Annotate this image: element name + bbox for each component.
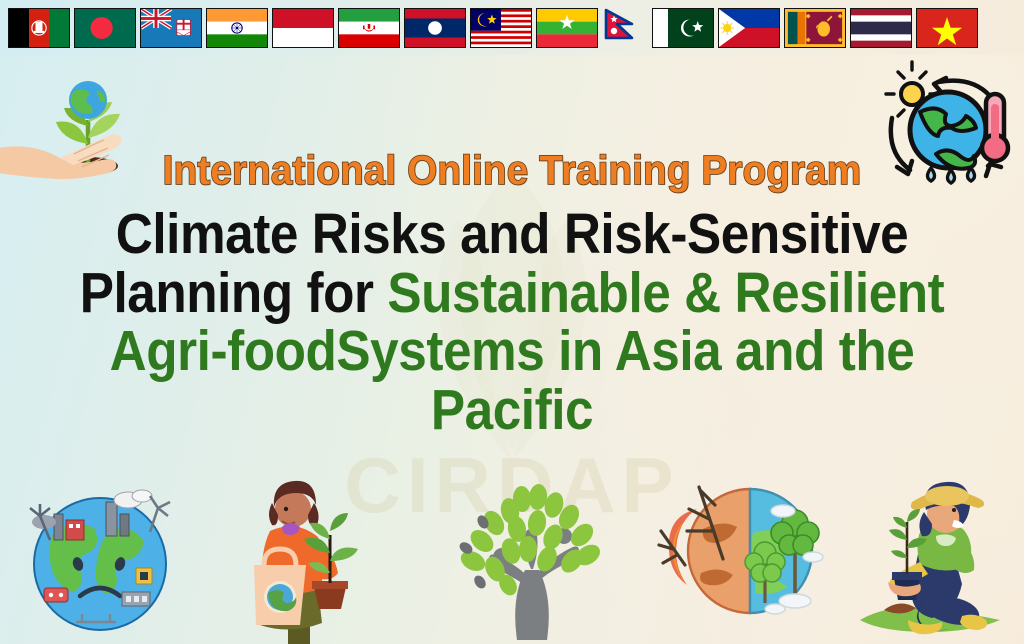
woman-with-tote-and-plant-icon — [230, 469, 370, 644]
flag-iran — [338, 8, 400, 48]
headings-block: International Online Training Program Cl… — [0, 150, 1024, 440]
title-line-2: Planning for Sustainable & Resilient — [51, 264, 973, 323]
flag-laos — [404, 8, 466, 48]
title-line-3-green: Agri-foodSystems in Asia and the Pacific — [110, 319, 915, 442]
flag-bangladesh — [74, 8, 136, 48]
flag-vietnam — [916, 8, 978, 48]
program-kicker: International Online Training Program — [31, 150, 994, 191]
title-line-3: Agri-foodSystems in Asia and the Pacific — [51, 322, 973, 439]
title-line-2-black: Planning for — [80, 261, 388, 325]
flag-strip — [0, 0, 1024, 55]
flag-nepal — [602, 8, 648, 48]
sad-polluted-earth-icon — [10, 472, 188, 640]
flag-pakistan — [652, 8, 714, 48]
split-globe-drought-green-icon — [655, 469, 850, 634]
title-line-1: Climate Risks and Risk-Sensitive — [51, 205, 973, 264]
flag-myanmar — [536, 8, 598, 48]
people-tree-icon — [425, 465, 640, 640]
flag-afghanistan — [8, 8, 70, 48]
gardener-planting-icon — [850, 470, 1010, 642]
flag-india — [206, 8, 268, 48]
title-line-2-green: Sustainable & Resilient — [387, 261, 944, 325]
flag-indonesia — [272, 8, 334, 48]
flag-malaysia — [470, 8, 532, 48]
title-line-1-text: Climate Risks and Risk-Sensitive — [116, 202, 908, 266]
flag-fiji — [140, 8, 202, 48]
flag-sri-lanka — [784, 8, 846, 48]
training-program-banner: CIRDAP International Online Training Pro… — [0, 0, 1024, 644]
flag-philippines — [718, 8, 780, 48]
flag-thailand — [850, 8, 912, 48]
